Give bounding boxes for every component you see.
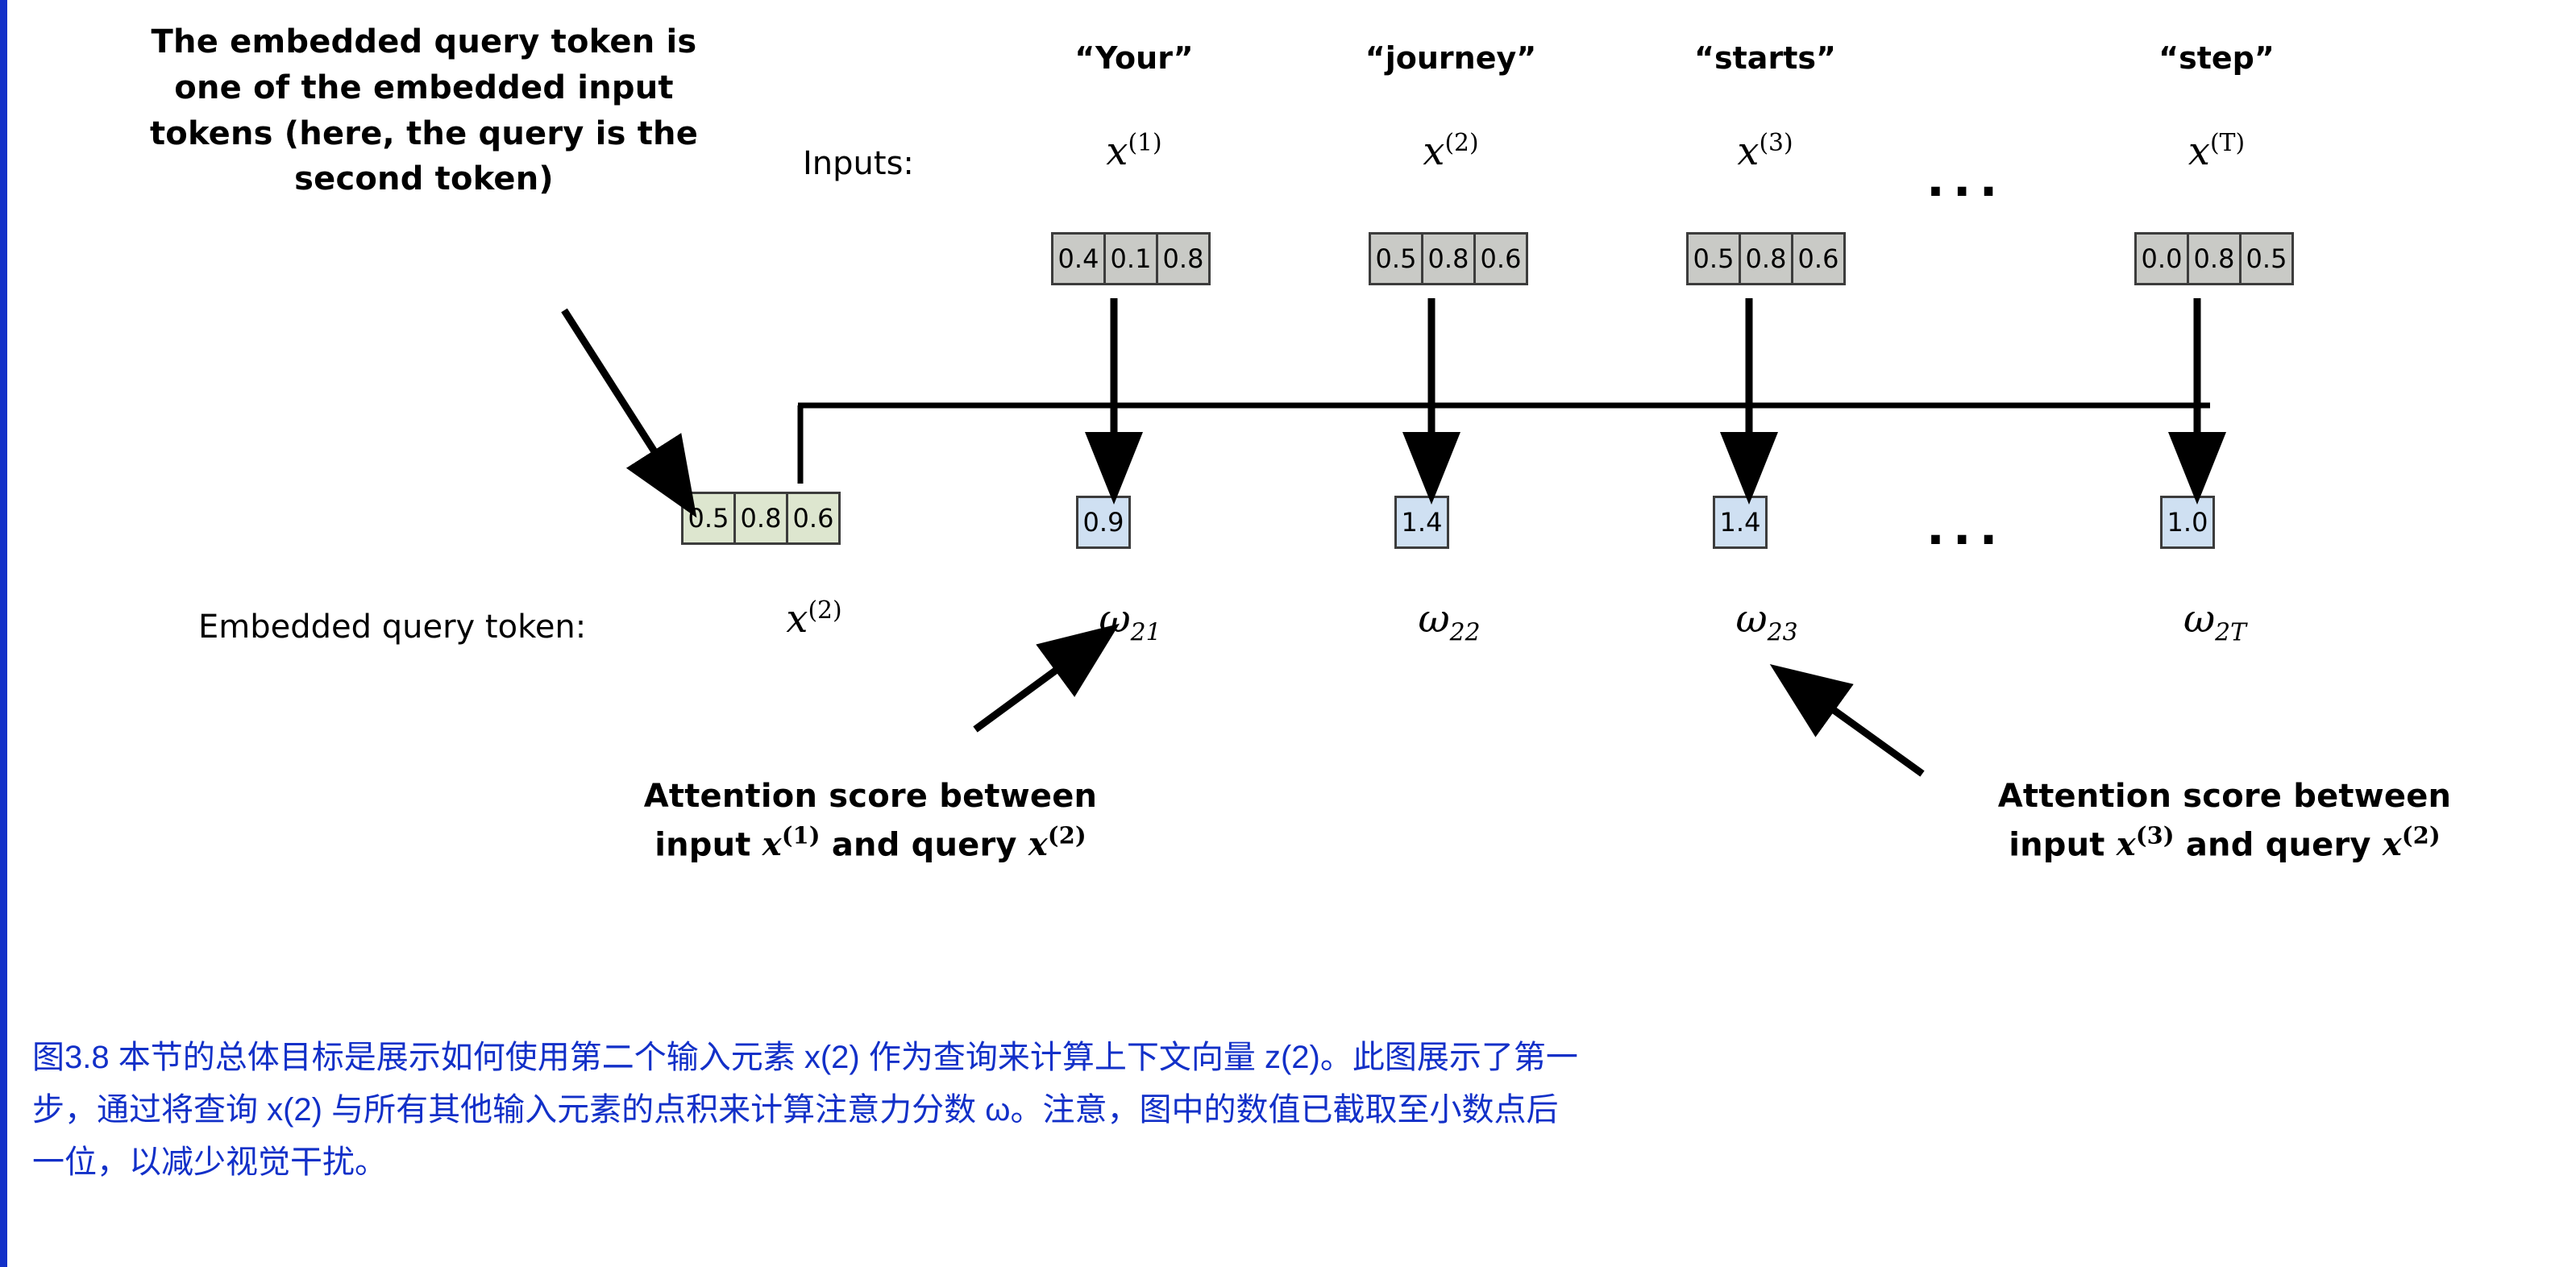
input-vector-3-cell-1: 0.5 [1686,232,1741,285]
input-symbol-2: x(2) [1346,129,1556,174]
input-vector-1-cell-1: 0.4 [1051,232,1106,285]
score-cell-1-value: 0.9 [1076,496,1131,549]
input-token-label-3: “starts” [1660,40,1870,76]
abl-x1-sup: (1) [782,822,821,850]
input-vector-2-cell-1: 0.5 [1369,232,1423,285]
score-symbol-4: ω2T [2110,596,2320,647]
score-symbol-4-base: ω [2183,596,2215,642]
input-vector-3: 0.5 0.8 0.6 [1686,232,1843,285]
input-token-label-4: “step” [2112,40,2321,76]
input-vector-3-cell-3: 0.6 [1791,232,1846,285]
input-vector-4-cell-2: 0.8 [2187,232,2242,285]
input-symbol-2-base: x [1423,129,1444,174]
embedded-query-token-label: Embedded query token: [198,609,586,646]
score-cell-1: 0.9 [1076,496,1131,549]
left-accent-rule [0,0,7,1267]
score-symbol-1-base: ω [1099,596,1131,642]
abl-pre: input [654,826,762,863]
input-symbol-3: x(3) [1660,129,1870,174]
abl-mid: and query [821,826,1028,863]
input-token-label-2: “journey” [1346,40,1556,76]
input-vector-4-cell-1: 0.0 [2134,232,2189,285]
input-vector-2-cell-2: 0.8 [1421,232,1476,285]
score-symbol-2: ω22 [1344,596,1554,647]
figure-caption: 图3.8 本节的总体目标是展示如何使用第二个输入元素 x(2) 作为查询来计算上… [32,1032,2499,1188]
abr-pre: input [2009,826,2117,863]
score-cell-3-value: 1.4 [1713,496,1768,549]
abl-x2: x(2) [1028,825,1086,863]
abl-x2-base: x [1028,825,1048,863]
score-symbol-1-sub: 21 [1131,619,1161,647]
query-symbol: x(2) [709,596,919,642]
annotation-bottom-left-line1: Attention score between [564,774,1177,820]
query-symbol-base: x [786,596,808,642]
input-symbol-4-sup: (T) [2210,129,2245,157]
input-vector-4: 0.0 0.8 0.5 [2134,232,2291,285]
score-symbol-2-base: ω [1419,596,1450,642]
input-symbol-4-base: x [2188,129,2210,174]
score-cell-3: 1.4 [1713,496,1768,549]
abr-x2: x(2) [2383,825,2441,863]
annotation-bottom-right-line2: input x(3) and query x(2) [1926,820,2523,868]
score-symbol-3-base: ω [1736,596,1768,642]
input-vector-2: 0.5 0.8 0.6 [1369,232,1526,285]
abr-x1-sup: (3) [2136,822,2175,850]
figure-caption-line-1: 图3.8 本节的总体目标是展示如何使用第二个输入元素 x(2) 作为查询来计算上… [32,1032,2499,1084]
score-cell-4: 1.0 [2160,496,2215,549]
abr-x2-base: x [2383,825,2402,863]
abl-x1-base: x [762,825,782,863]
score-cell-4-value: 1.0 [2160,496,2215,549]
figure-caption-line-3: 一位，以减少视觉干扰。 [32,1136,2499,1189]
query-symbol-sup: (2) [808,596,841,625]
score-symbol-2-sub: 22 [1450,619,1481,647]
figure-canvas: The embedded query token is one of the e… [0,0,2576,1267]
query-vector-cell-1: 0.5 [681,492,736,545]
score-cell-2-value: 1.4 [1394,496,1449,549]
query-vector-cell-2: 0.8 [733,492,788,545]
input-vector-1-cell-2: 0.1 [1103,232,1158,285]
query-vector-cell-3: 0.6 [786,492,841,545]
abl-x2-sup: (2) [1048,822,1086,850]
input-vector-3-cell-2: 0.8 [1739,232,1793,285]
input-symbol-1: x(1) [1029,129,1239,174]
query-vector: 0.5 0.8 0.6 [681,492,838,545]
annotation-bottom-right: Attention score between input x(3) and q… [1926,774,2523,868]
abr-x1-base: x [2117,825,2136,863]
input-symbol-3-sup: (3) [1759,129,1793,157]
input-vector-1: 0.4 0.1 0.8 [1051,232,1208,285]
input-token-label-1: “Your” [1029,40,1239,76]
input-symbol-3-base: x [1737,129,1759,174]
input-symbol-2-sup: (2) [1444,129,1478,157]
inputs-ellipsis: ... [1926,152,2005,208]
input-symbol-1-base: x [1106,129,1128,174]
annotation-bottom-left: Attention score between input x(1) and q… [564,774,1177,868]
score-symbol-3-sub: 23 [1768,619,1798,647]
scores-ellipsis: ... [1926,500,2005,556]
annotation-bottom-left-line2: input x(1) and query x(2) [564,820,1177,868]
abr-mid: and query [2175,826,2383,863]
input-symbol-1-sup: (1) [1128,129,1161,157]
input-symbol-4: x(T) [2112,129,2321,174]
score-symbol-4-sub: 2T [2215,619,2246,647]
abl-x1: x(1) [762,825,821,863]
score-symbol-1: ω21 [1025,596,1235,647]
score-cell-2: 1.4 [1394,496,1449,549]
figure-caption-line-2: 步，通过将查询 x(2) 与所有其他输入元素的点积来计算注意力分数 ω。注意，图… [32,1084,2499,1136]
abr-x2-sup: (2) [2402,822,2441,850]
input-vector-2-cell-3: 0.6 [1473,232,1528,285]
inputs-label: Inputs: [803,145,914,182]
abr-x1: x(3) [2117,825,2175,863]
input-vector-1-cell-3: 0.8 [1156,232,1211,285]
annotation-bottom-right-line1: Attention score between [1926,774,2523,820]
annotation-top-left: The embedded query token is one of the e… [142,19,706,202]
score-symbol-3: ω23 [1662,596,1872,647]
input-vector-4-cell-3: 0.5 [2239,232,2294,285]
